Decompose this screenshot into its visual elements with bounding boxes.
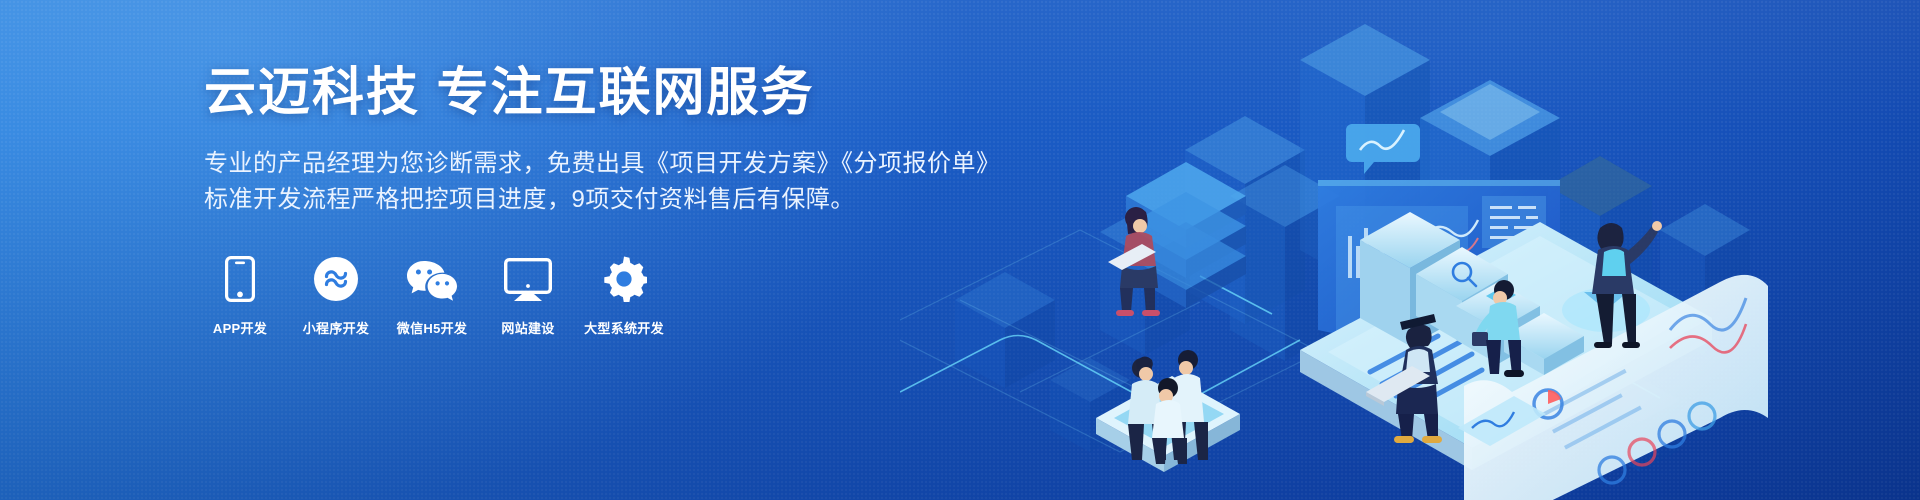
desktop-monitor-icon bbox=[504, 254, 552, 302]
subtitle-line-1: 专业的产品经理为您诊断需求，免费出具《项目开发方案》《分项报价单》 bbox=[204, 146, 904, 182]
isometric-data-city-illustration bbox=[900, 0, 1920, 500]
wechat-miniprogram-icon bbox=[313, 254, 359, 302]
service-item-miniprogram[interactable]: 小程序开发 bbox=[300, 254, 372, 337]
hero-banner: 云迈科技 专注互联网服务 专业的产品经理为您诊断需求，免费出具《项目开发方案》《… bbox=[0, 0, 1920, 500]
service-label-wechat-h5: 微信H5开发 bbox=[397, 318, 467, 337]
service-label-system: 大型系统开发 bbox=[584, 318, 664, 337]
subtitle-line-2: 标准开发流程严格把控项目进度，9项交付资料售后有保障。 bbox=[204, 182, 904, 218]
service-item-system[interactable]: 大型系统开发 bbox=[588, 254, 660, 337]
page-title: 云迈科技 专注互联网服务 bbox=[204, 64, 904, 122]
gear-icon bbox=[601, 254, 647, 302]
wechat-icon bbox=[406, 254, 458, 302]
service-label-website: 网站建设 bbox=[501, 318, 554, 337]
banner-subtitle: 专业的产品经理为您诊断需求，免费出具《项目开发方案》《分项报价单》 标准开发流程… bbox=[204, 146, 904, 218]
service-icon-list: APP开发 小程序开发 bbox=[204, 254, 904, 337]
service-label-miniprogram: 小程序开发 bbox=[303, 318, 370, 337]
banner-copy: 云迈科技 专注互联网服务 专业的产品经理为您诊断需求，免费出具《项目开发方案》《… bbox=[204, 64, 904, 337]
mobile-phone-icon bbox=[225, 254, 255, 302]
service-label-app: APP开发 bbox=[213, 318, 267, 337]
service-item-app[interactable]: APP开发 bbox=[204, 254, 276, 337]
service-item-website[interactable]: 网站建设 bbox=[492, 254, 564, 337]
service-item-wechat-h5[interactable]: 微信H5开发 bbox=[396, 254, 468, 337]
